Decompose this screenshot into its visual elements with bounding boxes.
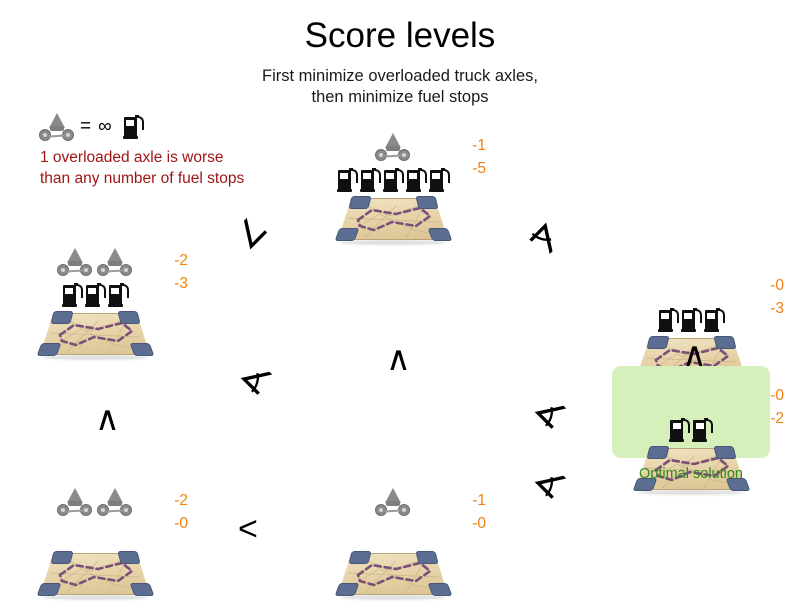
hard-score: -0 [770,384,784,407]
overloaded-axle-icon [38,112,76,142]
axle-icon-row [628,268,754,302]
fuel-pump-icon-row [628,412,754,442]
axle-icon-row [32,243,158,277]
subtitle-line-1: First minimize overloaded truck axles, [0,66,800,87]
score-group: -1-5 [472,134,486,180]
hard-score: -2 [174,489,188,512]
hard-score: -2 [174,249,188,272]
overloaded-axle-icon [374,487,412,517]
overloaded-axle-icon [56,487,94,517]
fuel-pump-icon [109,283,128,307]
vehicle-routing-map [36,311,154,363]
legend-note-line-1: 1 overloaded axle is worse [40,148,340,169]
vehicle-routing-map [334,196,452,248]
fuel-pump-icon [670,418,689,442]
subtitle-line-2: then minimize fuel stops [0,87,800,108]
node-bottom-left[interactable]: -2-0 [32,483,158,603]
score-group: -2-0 [174,489,188,535]
fuel-pump-icon [86,283,105,307]
legend-note: 1 overloaded axle is worse than any numb… [40,148,340,189]
equals-sign: = [80,116,91,138]
op-low-right: ∡ [528,460,574,506]
axle-icon-row [330,128,456,162]
overloaded-axle-icon [374,132,412,162]
overloaded-axle-icon [56,247,94,277]
hard-score: -0 [770,274,784,297]
op-bottom: < [238,512,258,546]
optimal-solution-label: Optimal solution [612,466,770,482]
soft-score: -3 [174,272,188,295]
soft-score: -0 [174,512,188,535]
op-right-up: ∧ [682,338,707,372]
fuel-pump-icon [361,168,380,192]
fuel-pump-icon [407,168,426,192]
node-bottom-center[interactable]: -1-0 [330,483,456,603]
op-left-up: ∧ [95,402,120,436]
op-center: ∧ [386,342,411,376]
infinity-symbol: ∞ [98,116,112,138]
fuel-pump-icon [63,283,82,307]
fuel-pump-icon [124,115,143,139]
soft-score: -5 [472,157,486,180]
score-group: -2-3 [174,249,188,295]
overloaded-axle-icon [96,247,134,277]
op-mid-left: ∡ [234,356,280,402]
fuel-pump-icon [693,418,712,442]
axle-icon-row [330,483,456,517]
fuel-pump-icon-row [330,162,456,192]
soft-score: -0 [472,512,486,535]
score-group: -0-3 [770,274,784,320]
fuel-pump-icon [430,168,449,192]
axle-icon-row [628,378,754,412]
fuel-pump-icon [659,308,678,332]
soft-score: -3 [770,297,784,320]
fuel-pump-icon-row [628,302,754,332]
op-top-left: ∠ [228,210,274,256]
legend-note-line-2: than any number of fuel stops [40,169,340,190]
vehicle-routing-map [36,551,154,603]
fuel-pump-icon-row [330,517,456,547]
legend: = ∞ [38,112,143,142]
fuel-pump-icon [682,308,701,332]
fuel-pump-icon-row [32,517,158,547]
fuel-pump-icon-row [32,277,158,307]
op-top-right: ∡ [522,216,568,262]
overloaded-axle-icon [96,487,134,517]
hard-score: -1 [472,489,486,512]
node-top-center[interactable]: -1-5 [330,128,456,248]
node-left[interactable]: -2-3 [32,243,158,363]
fuel-pump-icon [384,168,403,192]
op-mid-right: ∡ [528,390,574,436]
hard-score: -1 [472,134,486,157]
fuel-pump-icon [705,308,724,332]
soft-score: -2 [770,407,784,430]
diagram-canvas: Score levels First minimize overloaded t… [0,0,800,600]
page-title: Score levels [0,16,800,56]
vehicle-routing-map [334,551,452,603]
fuel-pump-icon [338,168,357,192]
axle-icon-row [32,483,158,517]
score-group: -0-2 [770,384,784,430]
score-group: -1-0 [472,489,486,535]
